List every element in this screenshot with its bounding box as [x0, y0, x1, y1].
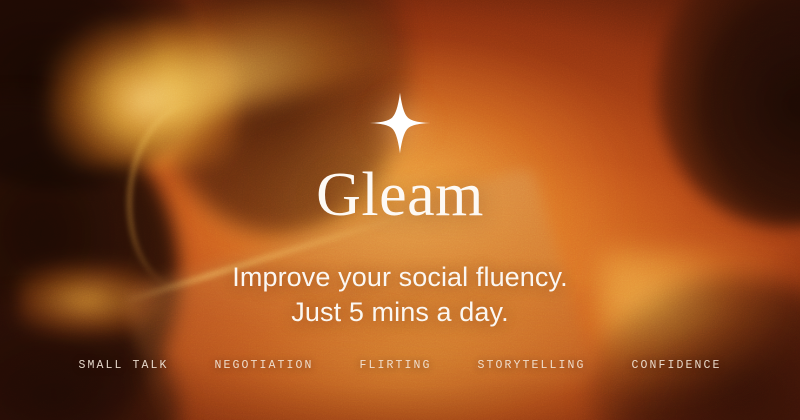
brand-wordmark: Gleam — [316, 164, 484, 226]
promo-hero-screen: Gleam Improve your social fluency. Just … — [0, 0, 800, 420]
hero-content: Gleam Improve your social fluency. Just … — [0, 0, 800, 420]
hero-tagline: Improve your social fluency. Just 5 mins… — [232, 260, 567, 330]
tagline-line-2: Just 5 mins a day. — [232, 295, 567, 330]
four-point-sparkle-icon — [369, 92, 431, 154]
tagline-line-1: Improve your social fluency. — [232, 260, 567, 295]
